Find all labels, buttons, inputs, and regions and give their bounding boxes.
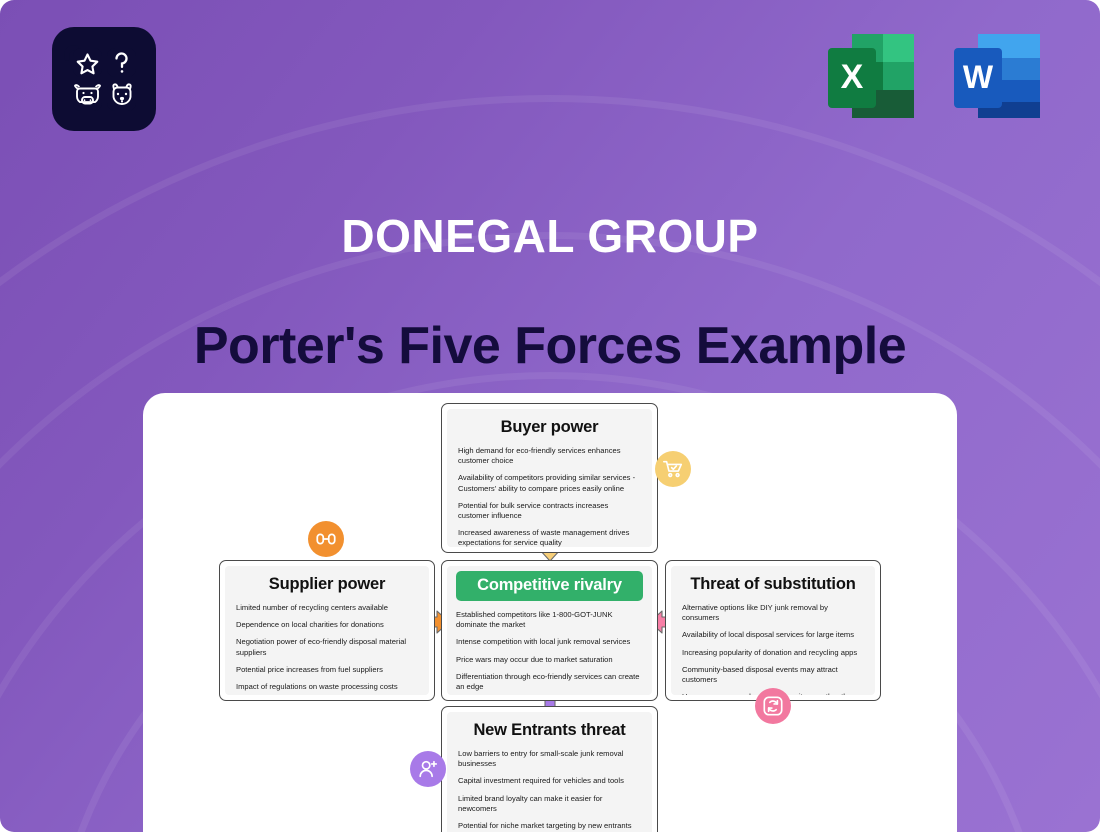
list-item: Potential for niche market targeting by … — [458, 821, 641, 831]
force-box-new-entrants-threat[interactable]: New Entrants threat Low barriers to entr… — [441, 706, 658, 832]
word-icon[interactable]: W — [946, 30, 1048, 126]
list-item: Intense competition with local junk remo… — [456, 637, 643, 647]
list-item: High demand for eco-friendly services en… — [458, 446, 641, 466]
force-bullets-new-entrants: Low barriers to entry for small-scale ju… — [458, 749, 641, 832]
svg-text:X: X — [841, 58, 864, 96]
list-item: Availability of local disposal services … — [682, 630, 864, 640]
list-item: Established competitors like 1-800-GOT-J… — [456, 610, 643, 630]
refresh-sync-icon — [755, 688, 791, 724]
list-item: Limited number of recycling centers avai… — [236, 603, 418, 613]
page-title: Porter's Five Forces Example — [0, 316, 1100, 376]
list-item: Limited brand loyalty can make it easier… — [458, 794, 641, 814]
force-bullets-substitution: Alternative options like DIY junk remova… — [682, 603, 864, 695]
list-item: Potential price increases from fuel supp… — [236, 665, 418, 675]
force-title-new-entrants: New Entrants threat — [458, 721, 641, 740]
brand-title: DONEGAL GROUP — [0, 209, 1100, 263]
force-title-substitution: Threat of substitution — [682, 575, 864, 594]
force-bullets-buyer: High demand for eco-friendly services en… — [458, 446, 641, 547]
force-title-buyer: Buyer power — [458, 418, 641, 437]
list-item: Potential for bulk service contracts inc… — [458, 501, 641, 521]
list-item: Increasing popularity of donation and re… — [682, 648, 864, 658]
force-box-threat-of-substitution[interactable]: Threat of substitution Alternative optio… — [665, 560, 881, 701]
add-user-icon — [410, 751, 446, 787]
list-item: Negotiation power of eco-friendly dispos… — [236, 637, 418, 657]
list-item: Capital investment required for vehicles… — [458, 776, 641, 786]
list-item: Availability of competitors providing si… — [458, 473, 641, 493]
list-item: Differentiation through eco-friendly ser… — [456, 672, 643, 692]
list-item: Community-based disposal events may attr… — [682, 665, 864, 685]
diagram-card: Buyer power High demand for eco-friendly… — [143, 393, 957, 832]
list-item: Increased awareness of waste management … — [458, 528, 641, 547]
excel-icon[interactable]: X — [820, 30, 922, 126]
list-item: Price wars may occur due to market satur… — [456, 655, 643, 665]
shopping-cart-icon — [655, 451, 691, 487]
force-box-competitive-rivalry[interactable]: Competitive rivalry Established competit… — [441, 560, 658, 701]
list-item: Low barriers to entry for small-scale ju… — [458, 749, 641, 769]
force-box-buyer-power[interactable]: Buyer power High demand for eco-friendly… — [441, 403, 658, 553]
porters-five-forces-diagram: Buyer power High demand for eco-friendly… — [143, 393, 957, 832]
dumbbell-link-icon — [308, 521, 344, 557]
force-title-rivalry: Competitive rivalry — [456, 571, 643, 601]
svg-text:W: W — [963, 59, 994, 95]
pet-quiz-scan-logo[interactable] — [52, 27, 156, 131]
slide-canvas: X W DONEGAL GROUP Porter's Five Forces E… — [0, 0, 1100, 832]
force-title-supplier: Supplier power — [236, 575, 418, 594]
force-bullets-rivalry: Established competitors like 1-800-GOT-J… — [456, 610, 643, 695]
ms-office-icons: X W — [820, 30, 1048, 126]
list-item: Impact of regulations on waste processin… — [236, 682, 418, 692]
force-box-supplier-power[interactable]: Supplier power Limited number of recycli… — [219, 560, 435, 701]
list-item: Dependence on local charities for donati… — [236, 620, 418, 630]
force-bullets-supplier: Limited number of recycling centers avai… — [236, 603, 418, 692]
list-item: Alternative options like DIY junk remova… — [682, 603, 864, 623]
